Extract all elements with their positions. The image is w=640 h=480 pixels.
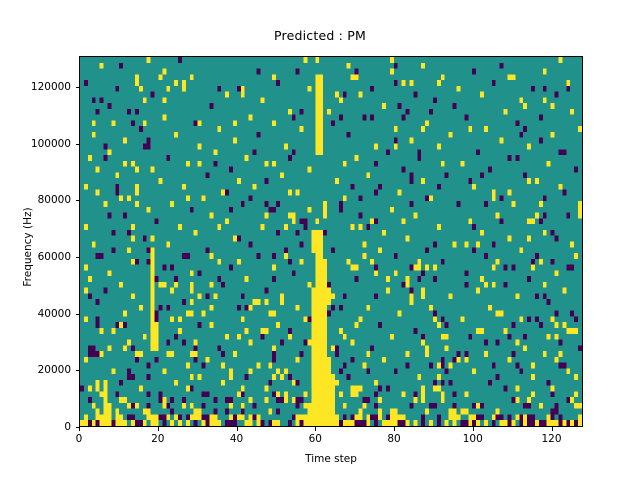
y-axis-label: Frequency (Hz) bbox=[22, 157, 34, 337]
heatmap-axes bbox=[79, 56, 583, 427]
y-tick-label: 120000 bbox=[0, 81, 71, 93]
y-tick-mark bbox=[76, 314, 80, 315]
x-tick-mark bbox=[473, 427, 474, 431]
y-tick-mark bbox=[76, 87, 80, 88]
x-tick-label: 100 bbox=[463, 433, 483, 445]
x-tick-label: 20 bbox=[151, 433, 164, 445]
y-tick-label: 40000 bbox=[0, 308, 71, 320]
x-tick-label: 80 bbox=[387, 433, 400, 445]
x-tick-label: 0 bbox=[76, 433, 83, 445]
y-tick-label: 0 bbox=[0, 421, 71, 433]
x-tick-mark bbox=[237, 427, 238, 431]
x-tick-label: 60 bbox=[309, 433, 322, 445]
y-tick-mark bbox=[76, 144, 80, 145]
page-title: Predicted : PM bbox=[0, 28, 640, 43]
y-tick-mark bbox=[76, 257, 80, 258]
x-tick-mark bbox=[315, 427, 316, 431]
y-tick-label: 20000 bbox=[0, 364, 71, 376]
y-tick-mark bbox=[76, 200, 80, 201]
x-tick-mark bbox=[552, 427, 553, 431]
y-tick-mark bbox=[76, 370, 80, 371]
x-tick-mark bbox=[394, 427, 395, 431]
x-tick-mark bbox=[79, 427, 80, 431]
heatmap-image bbox=[80, 57, 582, 426]
x-tick-mark bbox=[158, 427, 159, 431]
y-tick-label: 80000 bbox=[0, 194, 71, 206]
y-tick-label: 60000 bbox=[0, 251, 71, 263]
x-tick-label: 120 bbox=[541, 433, 561, 445]
y-tick-label: 100000 bbox=[0, 138, 71, 150]
x-axis-label: Time step bbox=[79, 453, 583, 465]
matplotlib-figure: Predicted : PM 0200004000060000800001000… bbox=[0, 0, 640, 480]
x-tick-label: 40 bbox=[230, 433, 243, 445]
